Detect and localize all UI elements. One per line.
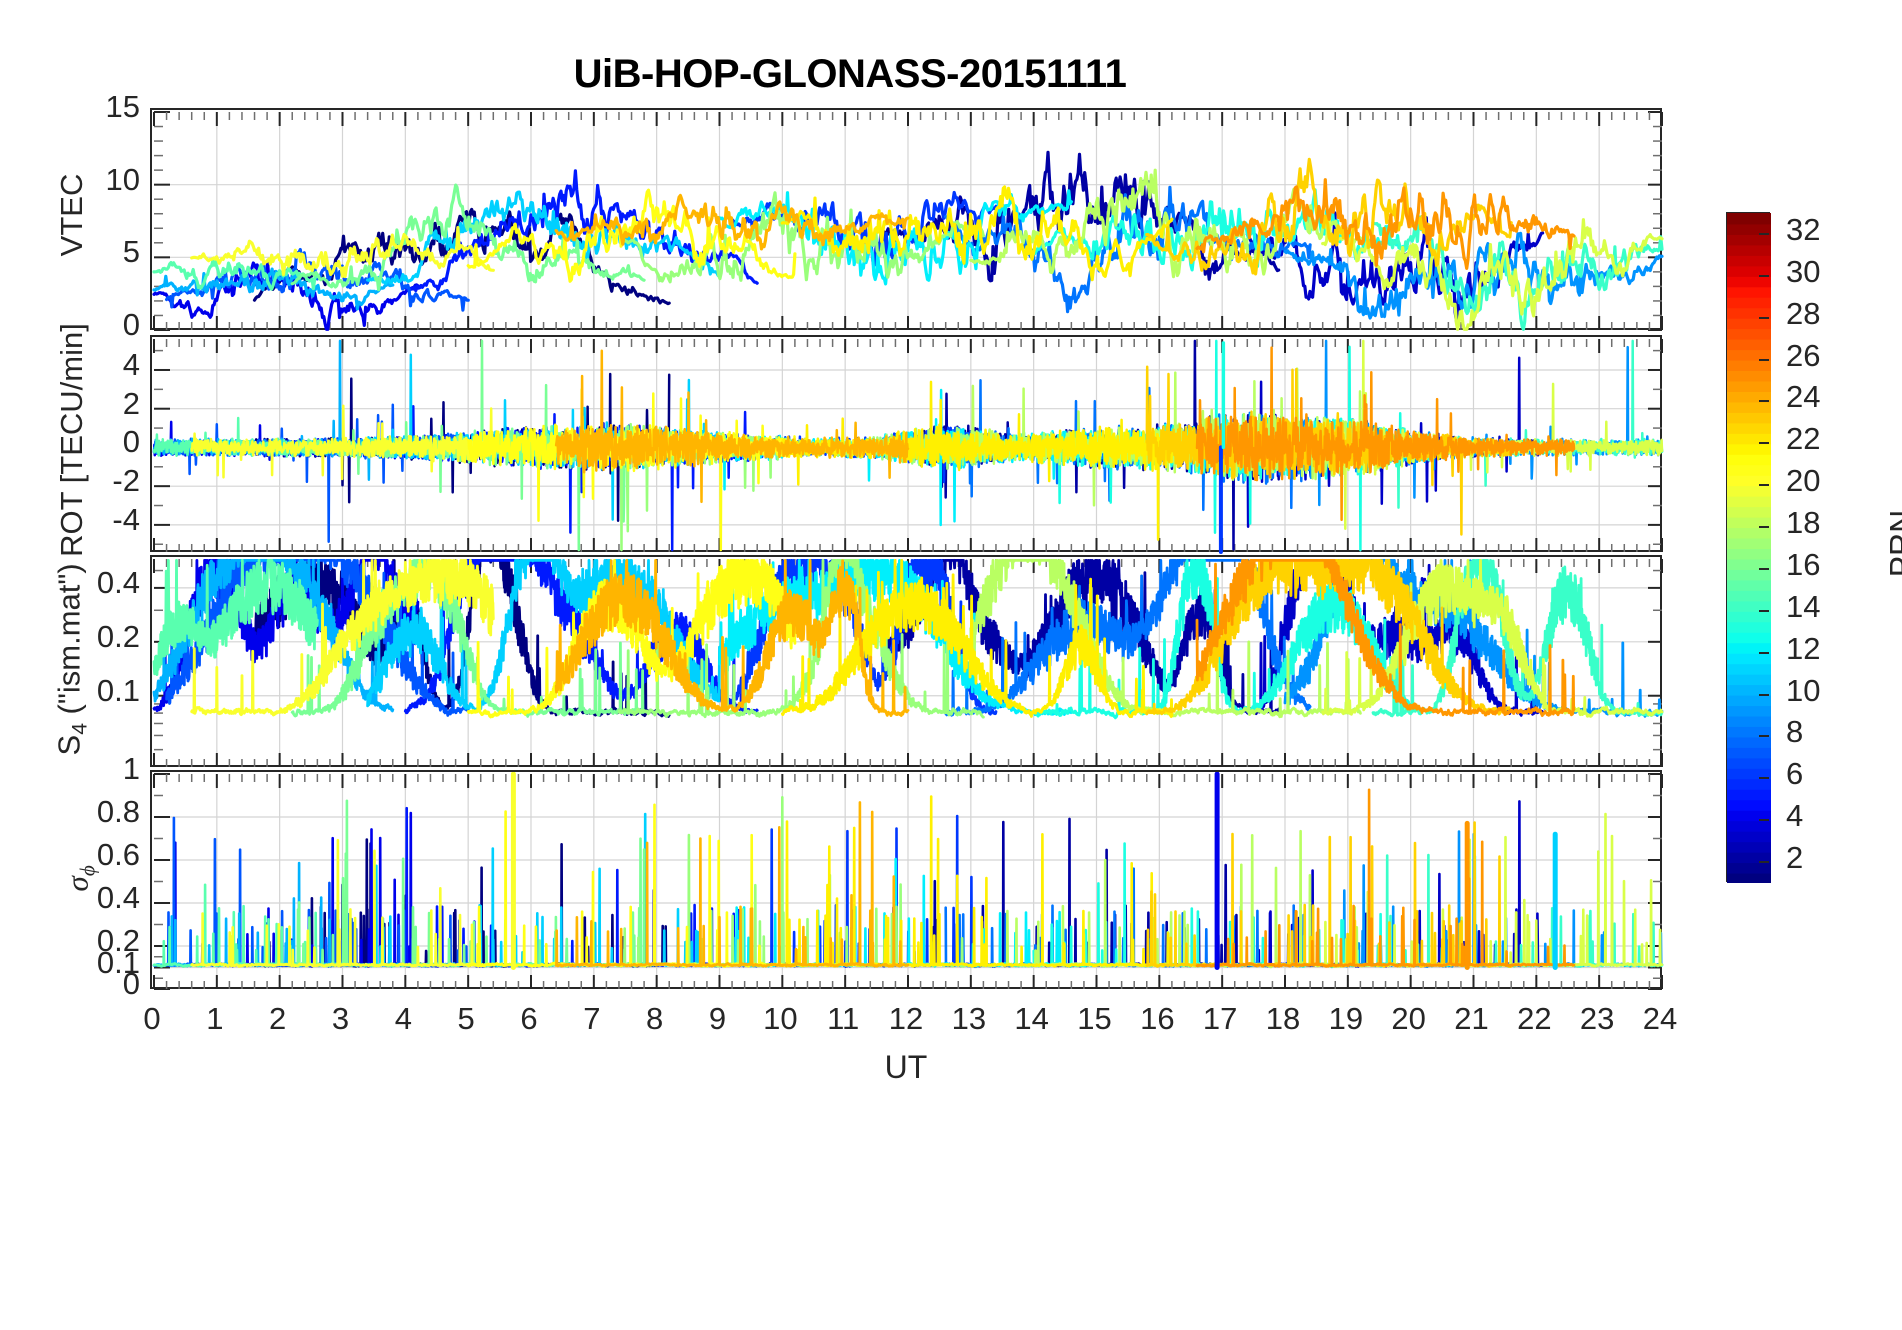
sigma-phi-axis-label: σϕ (60, 788, 101, 968)
panel-sigma-phi (150, 770, 1662, 989)
figure-title: UiB-HOP-GLONASS-20151111 (0, 52, 1700, 97)
colorbar-tickmark-10 (1759, 694, 1769, 696)
colorbar-tick-10: 10 (1786, 673, 1820, 709)
colorbar-tick-18: 18 (1786, 505, 1820, 541)
colorbar-tick-30: 30 (1786, 254, 1820, 290)
colorbar-tick-20: 20 (1786, 463, 1820, 499)
colorbar-tickmark-26 (1759, 359, 1769, 361)
colorbar-tickmark-22 (1759, 442, 1769, 444)
colorbar-tick-16: 16 (1786, 547, 1820, 583)
colorbar-tick-26: 26 (1786, 338, 1820, 374)
panel-s4 (150, 555, 1662, 767)
colorbar-tickmark-24 (1759, 400, 1769, 402)
x-tick-24: 24 (1620, 1001, 1700, 1037)
colorbar-tickmark-30 (1759, 275, 1769, 277)
panel-rot (150, 335, 1662, 552)
colorbar-tick-4: 4 (1786, 798, 1803, 834)
colorbar-tickmark-14 (1759, 610, 1769, 612)
colorbar-tick-6: 6 (1786, 756, 1803, 792)
colorbar-tickmark-4 (1759, 819, 1769, 821)
colorbar-tick-2: 2 (1786, 840, 1803, 876)
s4-axis-label: S4 ("ism.mat") (52, 479, 93, 839)
panel-vtec (150, 108, 1662, 330)
colorbar-tickmark-20 (1759, 484, 1769, 486)
x-axis-label: UT (826, 1049, 986, 1086)
colorbar-tick-14: 14 (1786, 589, 1820, 625)
colorbar-tickmark-28 (1759, 317, 1769, 319)
colorbar-tick-32: 32 (1786, 212, 1820, 248)
colorbar-tickmark-8 (1759, 735, 1769, 737)
colorbar-tickmark-18 (1759, 526, 1769, 528)
colorbar-prn[interactable] (1726, 212, 1770, 882)
colorbar-tick-28: 28 (1786, 296, 1820, 332)
colorbar-tick-22: 22 (1786, 421, 1820, 457)
colorbar-tickmark-2 (1759, 861, 1769, 863)
colorbar-tick-8: 8 (1786, 714, 1803, 750)
colorbar-tickmark-6 (1759, 777, 1769, 779)
colorbar-tick-12: 12 (1786, 631, 1820, 667)
colorbar-tick-24: 24 (1786, 379, 1820, 415)
colorbar-tickmark-16 (1759, 568, 1769, 570)
colorbar-tickmark-32 (1759, 233, 1769, 235)
colorbar-label: PRN (1884, 484, 1902, 604)
colorbar-tickmark-12 (1759, 652, 1769, 654)
